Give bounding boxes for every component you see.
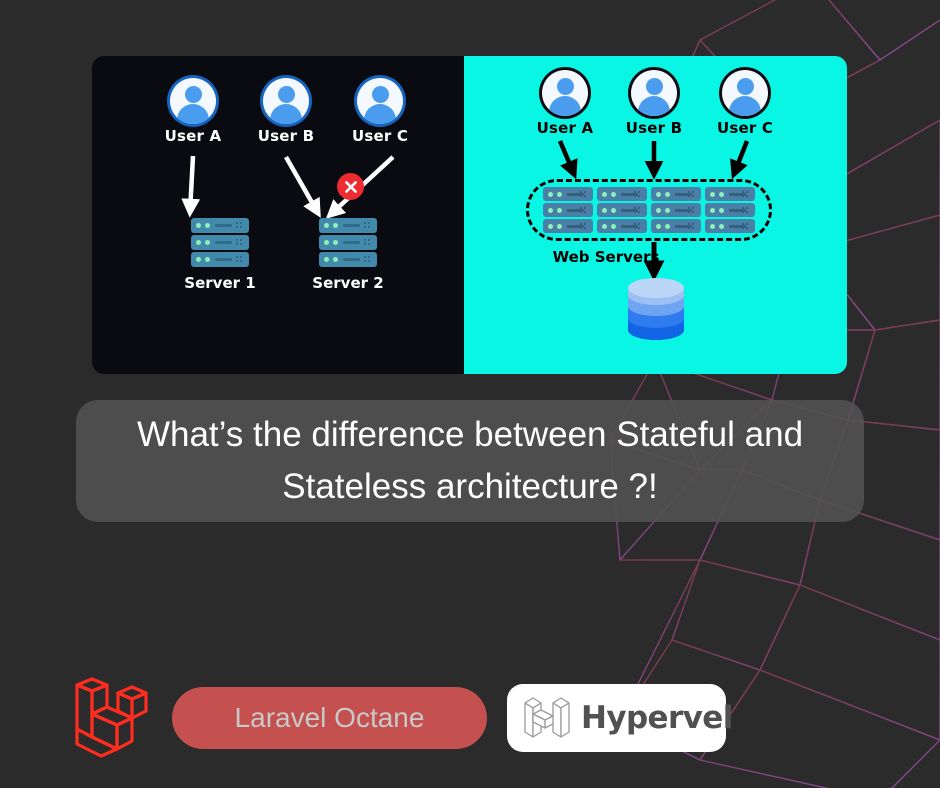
stateless-diagram-panel: User A User B User C: [464, 56, 847, 374]
server-rack-unit: [191, 235, 249, 250]
avatar-head-shape: [278, 86, 295, 103]
rack-vent-dots: [236, 222, 244, 230]
user-label: User A: [527, 119, 603, 137]
user-label: User C: [707, 119, 783, 137]
stateless-user-b: User B: [616, 70, 692, 137]
user-avatar-icon: [722, 70, 768, 116]
rack-vent-dots: [634, 207, 642, 215]
avatar-head-shape: [372, 86, 389, 103]
server-label: Server 1: [162, 274, 278, 292]
avatar-body-shape: [638, 96, 670, 116]
avatar-body-shape: [177, 104, 209, 124]
stateful-user-c: User C: [342, 78, 418, 145]
architecture-diagram-card: User A User B User C: [92, 56, 847, 374]
hypervel-h-icon: [521, 694, 573, 742]
server-rack-unit: [651, 219, 701, 233]
stateful-server-1: Server 1: [162, 218, 278, 292]
server-rack-unit: [191, 218, 249, 233]
server-stack-icon: [651, 187, 701, 233]
avatar-head-shape: [557, 78, 574, 95]
server-rack-unit: [651, 203, 701, 217]
server-rack-unit: [705, 203, 755, 217]
user-avatar-icon: [542, 70, 588, 116]
user-avatar-icon: [263, 78, 309, 124]
avatar-body-shape: [364, 104, 396, 124]
rack-vent-dots: [364, 256, 372, 264]
rack-vent-dots: [742, 191, 750, 199]
avatar-head-shape: [185, 86, 202, 103]
caption-text: What’s the difference between Stateful a…: [98, 409, 842, 513]
server-stack-icon: [705, 187, 755, 233]
blocked-x-icon: [337, 173, 364, 200]
server-rack-unit: [705, 219, 755, 233]
rack-vent-dots: [580, 191, 588, 199]
database-cylinder-icon: [628, 278, 684, 340]
server-rack-unit: [543, 219, 593, 233]
hypervel-badge[interactable]: Hypervel: [507, 684, 726, 752]
user-label: User A: [155, 127, 231, 145]
rack-vent-dots: [634, 223, 642, 231]
server-stack-icon: [597, 187, 647, 233]
rack-vent-dots: [688, 191, 696, 199]
stateless-user-a: User A: [527, 70, 603, 137]
server-stack-icon: [543, 187, 593, 233]
web-server-cluster: [526, 179, 772, 241]
avatar-head-shape: [646, 78, 663, 95]
server-rack-unit: [543, 187, 593, 201]
server-rack-unit: [597, 219, 647, 233]
server-rack-unit: [319, 235, 377, 250]
stateful-user-a: User A: [155, 78, 231, 145]
rack-vent-dots: [742, 207, 750, 215]
user-avatar-icon: [631, 70, 677, 116]
footer-bar: Laravel Octane Hypervel: [70, 676, 870, 760]
rack-vent-dots: [236, 239, 244, 247]
avatar-body-shape: [270, 104, 302, 124]
server-rack-unit: [319, 252, 377, 267]
server-rack-unit: [597, 187, 647, 201]
laravel-logo-icon[interactable]: [70, 677, 152, 759]
hypervel-label: Hypervel: [581, 700, 733, 736]
rack-vent-dots: [364, 222, 372, 230]
server-rack-unit: [597, 203, 647, 217]
laravel-octane-pill[interactable]: Laravel Octane: [172, 687, 487, 749]
web-servers-label: Web Servers: [516, 248, 696, 266]
slide-canvas: User A User B User C: [0, 0, 940, 788]
stateful-user-b: User B: [248, 78, 324, 145]
server-rack-unit: [705, 187, 755, 201]
stateful-server-2: Server 2: [290, 218, 406, 292]
rack-vent-dots: [580, 207, 588, 215]
avatar-body-shape: [549, 96, 581, 116]
avatar-head-shape: [737, 78, 754, 95]
user-label: User C: [342, 127, 418, 145]
server-rack-unit: [319, 218, 377, 233]
user-label: User B: [616, 119, 692, 137]
server-label: Server 2: [290, 274, 406, 292]
avatar-body-shape: [729, 96, 761, 116]
caption-box: What’s the difference between Stateful a…: [76, 400, 864, 522]
user-avatar-icon: [170, 78, 216, 124]
user-avatar-icon: [357, 78, 403, 124]
rack-vent-dots: [742, 223, 750, 231]
rack-vent-dots: [688, 207, 696, 215]
rack-vent-dots: [364, 239, 372, 247]
rack-vent-dots: [634, 191, 642, 199]
server-stack-icon: [162, 218, 278, 267]
stateful-diagram-panel: User A User B User C: [92, 56, 464, 374]
server-rack-unit: [651, 187, 701, 201]
rack-vent-dots: [688, 223, 696, 231]
rack-vent-dots: [236, 256, 244, 264]
rack-vent-dots: [580, 223, 588, 231]
server-rack-unit: [191, 252, 249, 267]
server-rack-unit: [543, 203, 593, 217]
laravel-octane-label: Laravel Octane: [235, 702, 425, 734]
server-stack-icon: [290, 218, 406, 267]
stateless-user-c: User C: [707, 70, 783, 137]
user-label: User B: [248, 127, 324, 145]
